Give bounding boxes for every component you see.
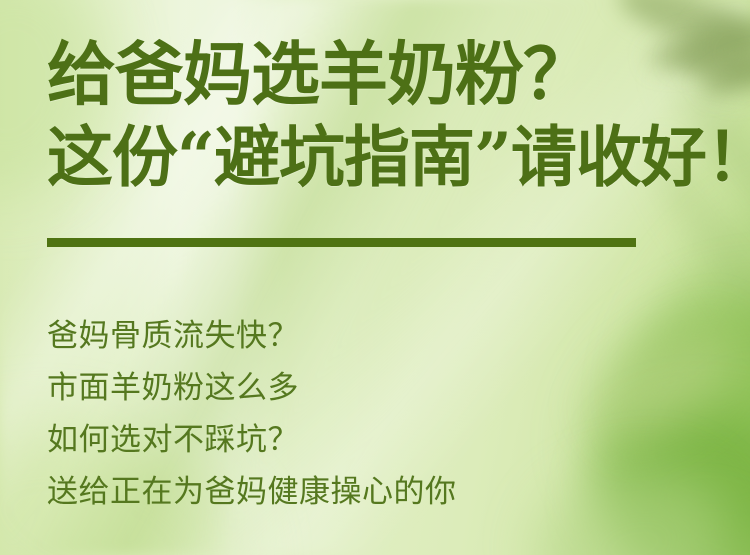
body-line-3: 如何选对不踩坑？ <box>47 414 707 466</box>
headline-line-1: 给爸妈选羊奶粉？ <box>47 34 727 116</box>
body-line-1: 爸妈骨质流失快？ <box>47 310 707 362</box>
body-line-4: 送给正在为爸妈健康操心的你 <box>47 466 707 518</box>
headline-line-2: 这份“避坑指南”请收好！ <box>47 116 727 198</box>
promo-poster: 给爸妈选羊奶粉？ 这份“避坑指南”请收好！ 爸妈骨质流失快？ 市面羊奶粉这么多 … <box>0 0 750 555</box>
headline-divider-rule <box>47 238 636 247</box>
poster-content: 给爸妈选羊奶粉？ 这份“避坑指南”请收好！ 爸妈骨质流失快？ 市面羊奶粉这么多 … <box>0 0 750 555</box>
body-line-2: 市面羊奶粉这么多 <box>47 362 707 414</box>
body-copy-block: 爸妈骨质流失快？ 市面羊奶粉这么多 如何选对不踩坑？ 送给正在为爸妈健康操心的你 <box>47 310 707 518</box>
headline-block: 给爸妈选羊奶粉？ 这份“避坑指南”请收好！ <box>47 34 727 198</box>
